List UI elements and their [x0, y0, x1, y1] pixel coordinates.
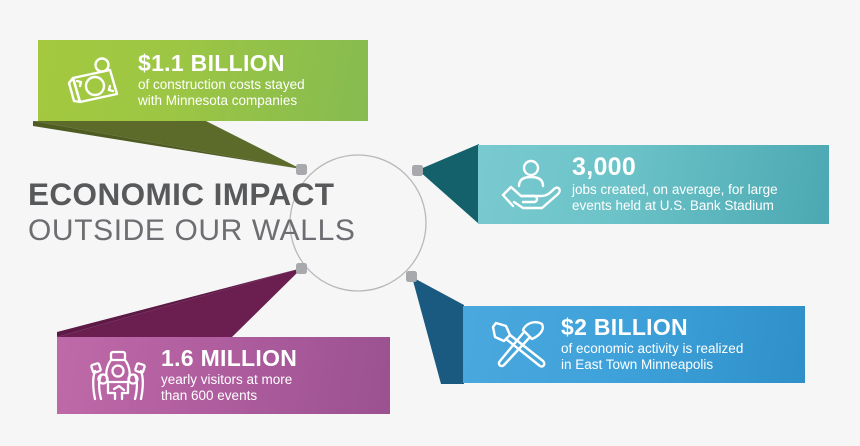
- activity-value: $2 BILLION: [561, 316, 805, 339]
- economic-impact-infographic: ECONOMIC IMPACT OUTSIDE OUR WALLS $1.1 B…: [0, 0, 860, 446]
- visitors-desc-line-2: than 600 events: [161, 388, 390, 404]
- stat-panel-activity: $2 BILLION of economic activity is reali…: [463, 306, 805, 383]
- headline-line-1: ECONOMIC IMPACT: [28, 178, 428, 211]
- construction-value: $1.1 BILLION: [138, 52, 368, 75]
- visitors-value: 1.6 MILLION: [161, 347, 390, 370]
- jobs-desc-line-2: events held at U.S. Bank Stadium: [572, 198, 829, 214]
- stat-panel-visitors: 1.6 MILLION yearly visitors at more than…: [57, 337, 390, 414]
- fold-activity: [412, 277, 464, 384]
- activity-text: $2 BILLION of economic activity is reali…: [561, 316, 805, 374]
- headline-line-2: OUTSIDE OUR WALLS: [28, 214, 428, 248]
- hand-holding-person-icon: [490, 159, 572, 211]
- crowd-people-icon: [75, 349, 161, 403]
- jobs-text: 3,000 jobs created, on average, for larg…: [572, 155, 829, 215]
- construction-desc-line-2: with Minnesota companies: [138, 93, 368, 109]
- page-title: ECONOMIC IMPACT OUTSIDE OUR WALLS: [28, 178, 428, 247]
- visitors-text: 1.6 MILLION yearly visitors at more than…: [161, 347, 390, 405]
- hammer-tools-icon: [477, 319, 561, 371]
- activity-desc-line-1: of economic activity is realized: [561, 341, 805, 357]
- activity-desc-line-2: in East Town Minneapolis: [561, 357, 805, 373]
- stat-panel-construction: $1.1 BILLION of construction costs staye…: [38, 40, 368, 121]
- construction-desc-line-1: of construction costs stayed: [138, 77, 368, 93]
- jobs-desc-line-1: jobs created, on average, for large: [572, 182, 829, 198]
- construction-text: $1.1 BILLION of construction costs staye…: [138, 52, 368, 110]
- hub-node-southwest: [296, 263, 307, 274]
- money-bills-icon: [52, 56, 138, 106]
- jobs-value: 3,000: [572, 155, 829, 181]
- stat-panel-jobs: 3,000 jobs created, on average, for larg…: [478, 145, 829, 224]
- hub-node-northeast: [412, 165, 423, 176]
- hub-node-northwest: [296, 164, 307, 175]
- hub-node-southeast: [406, 271, 417, 282]
- visitors-desc-line-1: yearly visitors at more: [161, 372, 390, 388]
